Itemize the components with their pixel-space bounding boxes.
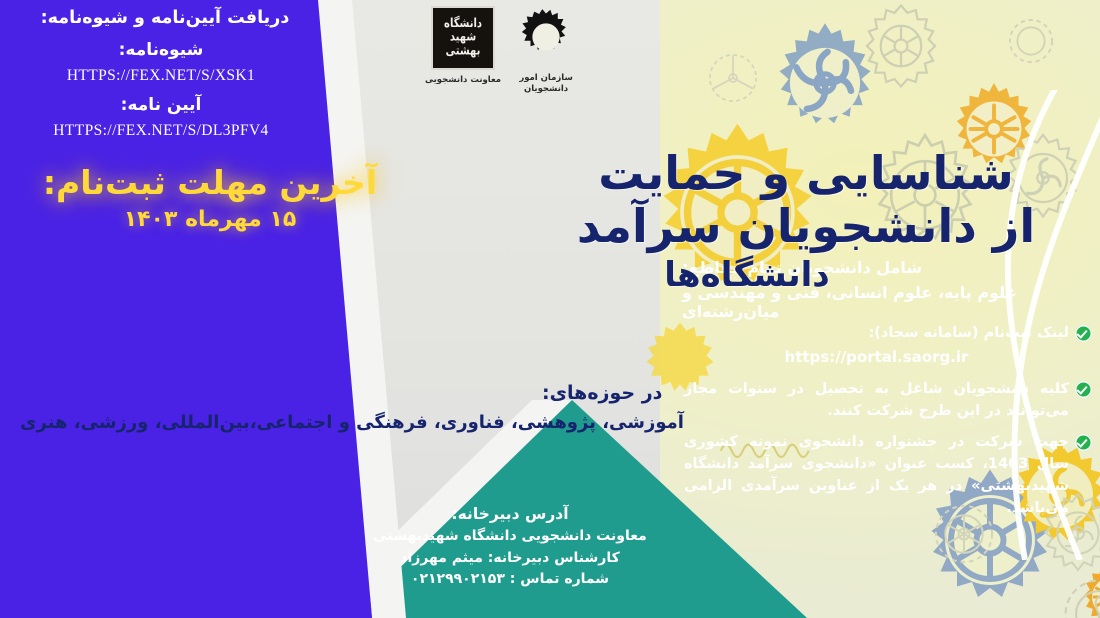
list-item-text: جهت شرکت در جشنواره دانشجوی نمونه کشوری … [684,431,1069,519]
registration-link[interactable]: https://portal.saorg.ir [684,346,1069,369]
fields-list: آموزشی، پژوهشی، فناوری، فرهنگی و اجتماعی… [20,412,1082,433]
regulation-label: آیین نامه: [0,95,322,115]
title-line-1: شناسایی و حمایت [526,148,1086,199]
download-heading: دریافت آیین‌نامه و شیوه‌نامه: [0,8,330,28]
shahid-beheshti-seal-icon: دانشگاه شهید بهشتی [431,6,495,70]
check-circle-icon [1075,434,1092,451]
organization-caption-line2: دانشجویان [519,84,573,95]
organization-logo-caption: سازمان امور دانشجویان [519,73,573,94]
poster-canvas: دانشگاه شهید بهشتی معاونت دانشجویی سازما… [0,0,1100,618]
logo-row: دانشگاه شهید بهشتی معاونت دانشجویی سازما… [425,6,660,116]
starburst-ring-icon [515,6,577,68]
university-logo: دانشگاه شهید بهشتی معاونت دانشجویی [425,6,501,85]
organization-logo: سازمان امور دانشجویان [515,6,577,94]
gear-icon-outline-bottom-c [1055,570,1100,618]
organization-caption-line1: سازمان امور [519,73,573,84]
method-label: شیوه‌نامه: [0,40,322,60]
bullet-1-label: لینک ثبت‌نام (سامانه سجاد): [868,325,1069,341]
list-item-text: لینک ثبت‌نام (سامانه سجاد): https://port… [684,322,1069,369]
list-item: جهت شرکت در جشنواره دانشجوی نمونه کشوری … [668,431,1100,519]
gear-icon-outline-topmid [855,0,947,92]
check-circle-icon [1075,325,1092,342]
university-logo-caption: معاونت دانشجویی [425,75,501,85]
title-line-3: دانشگاه‌ها [526,253,1086,297]
method-url[interactable]: HTTPS://FEX.NET/S/XSK1 [0,67,322,85]
deadline-date: ۱۵ مهرماه ۱۴۰۳ [0,207,420,232]
gear-icon-outline-small-topright [1000,10,1062,72]
contact-person: کارشناس دبیرخانه: میثم مهرزاد [330,548,690,570]
contact-office: معاونت دانشجویی دانشگاه شهیدبهشتی [330,526,690,548]
gear-icon-outline-left-faint [700,45,766,111]
regulation-url[interactable]: HTTPS://FEX.NET/S/DL3PFV4 [0,122,322,140]
university-seal-text: دانشگاه شهید بهشتی [433,17,493,59]
contact-block: آدرس دبیرخانه: معاونت دانشجویی دانشگاه ش… [330,505,690,591]
contact-phone: شماره تماس : ۰۲۱۲۹۹۰۲۱۵۳ [330,569,690,591]
list-item: لینک ثبت‌نام (سامانه سجاد): https://port… [668,322,1100,369]
title-line-2: از دانشجویان سرآمد [526,199,1086,253]
contact-heading: آدرس دبیرخانه: [330,505,690,523]
fields-heading: در حوزه‌های: [542,382,1082,404]
deadline-title: آخرین مهلت ثبت‌نام: [0,163,420,202]
page-title: شناسایی و حمایت از دانشجویان سرآمد دانشگ… [526,148,1086,297]
